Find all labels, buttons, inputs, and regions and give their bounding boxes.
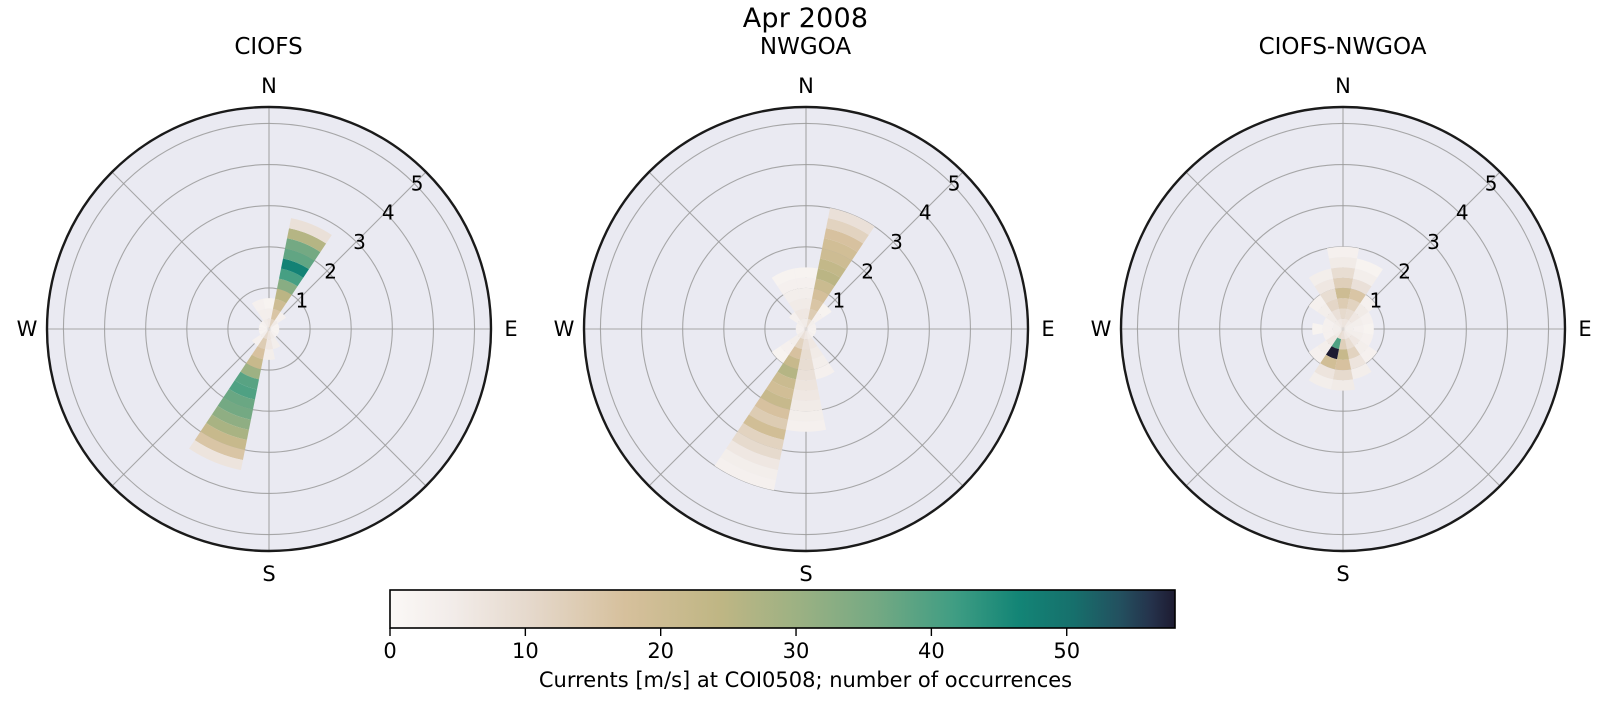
colorbar-tick-label: 0 [383,639,396,663]
radial-tick-label-2: 2 [324,259,337,283]
rose-bin [794,379,818,390]
rose-bin [1331,267,1355,278]
rose-bin [1335,359,1351,370]
rose-bin [1327,247,1359,259]
colorbar-tick-label: 40 [918,639,945,663]
compass-label-n: N [1335,74,1351,98]
radial-tick-label-5: 5 [411,171,424,195]
rose-bin [1337,298,1349,309]
rose-bin [786,420,826,432]
polar-plot-nwgoa[interactable]: NESW12345 [537,0,1074,600]
colorbar-gradient[interactable] [390,590,1175,628]
polar-plot-ciofs[interactable]: NESW12345 [0,0,537,600]
rose-bin [796,278,816,289]
radial-tick-label-1: 1 [295,289,308,313]
colorbar-region: 01020304050 Currents [m/s] at COI0508; n… [0,578,1611,724]
polar-panel-ciofs-nwgoa: CIOFS-NWGOA NESW12345 [1074,0,1611,600]
figure-canvas: Apr 2008 CIOFS NESW12345 NWGOA NESW12345… [0,0,1611,724]
rose-bin [798,288,814,299]
radial-tick-label-3: 3 [890,230,903,254]
rose-bin [1337,349,1349,360]
radial-tick-label-4: 4 [382,201,395,225]
polar-panel-nwgoa: NWGOA NESW12345 [537,0,1074,600]
rose-bin [794,267,818,278]
colorbar-label: Currents [m/s] at COI0508; number of occ… [0,668,1611,692]
rose-bin [798,359,814,370]
colorbar[interactable]: 01020304050 [0,578,1611,668]
radial-tick-label-3: 3 [353,230,366,254]
rose-bin [1329,257,1357,268]
compass-label-n: N [261,74,277,98]
colorbar-tick-label: 50 [1053,639,1080,663]
compass-label-n: N [798,74,814,98]
compass-label-w: W [554,317,575,341]
polar-panel-ciofs: CIOFS NESW12345 [0,0,537,600]
rose-bin [792,389,820,400]
compass-label-w: W [1091,317,1112,341]
colorbar-tick-label: 30 [783,639,810,663]
radial-tick-label-3: 3 [1427,230,1440,254]
radial-tick-label-1: 1 [1369,289,1382,313]
rose-bin [1333,278,1353,289]
radial-tick-label-2: 2 [861,259,874,283]
rose-bin [790,400,822,412]
rose-bin [796,369,816,380]
rose-bin [1363,323,1374,335]
radial-tick-label-4: 4 [919,201,932,225]
compass-label-e: E [1041,317,1054,341]
radial-tick-label-5: 5 [948,171,961,195]
colorbar-tick-label: 20 [647,639,674,663]
compass-label-w: W [17,317,38,341]
rose-bin [1335,288,1351,299]
radial-tick-label-5: 5 [1485,171,1498,195]
radial-tick-label-4: 4 [1456,201,1469,225]
rose-bin [1312,323,1323,335]
radial-tick-label-2: 2 [1398,259,1411,283]
colorbar-tick-label: 10 [512,639,539,663]
rose-bin [800,349,812,360]
rose-bin [1333,369,1353,380]
radial-tick-label-1: 1 [832,289,845,313]
rose-bin [1331,379,1355,390]
rose-bin [263,349,275,360]
compass-label-e: E [504,317,517,341]
rose-bin [263,298,275,309]
rose-bin [800,298,812,309]
compass-label-e: E [1578,317,1591,341]
polar-plot-ciofs-nwgoa[interactable]: NESW12345 [1074,0,1611,600]
rose-bin [788,410,824,422]
